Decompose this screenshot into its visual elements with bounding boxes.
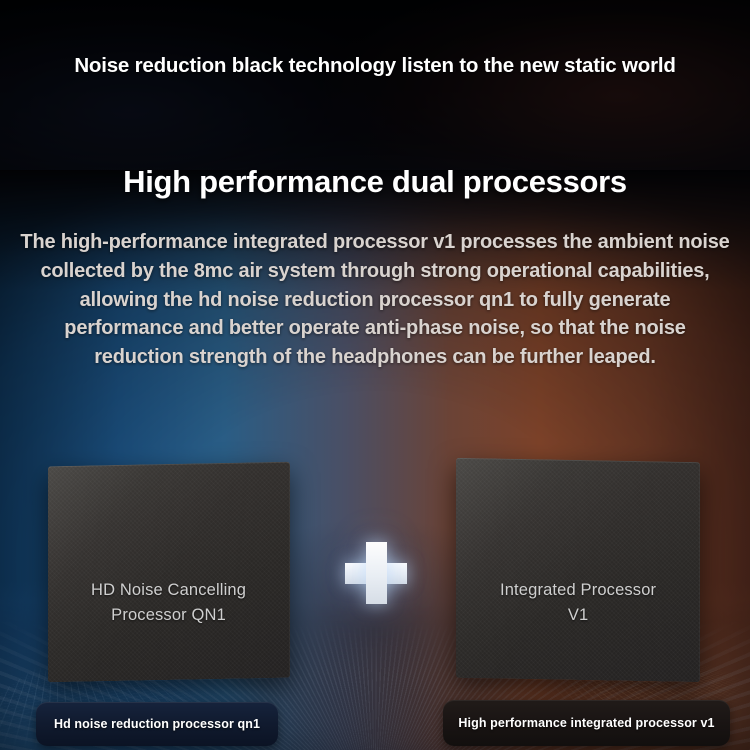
promo-banner: Noise reduction black technology listen …: [0, 0, 750, 750]
badge-qn1[interactable]: Hd noise reduction processor qn1: [36, 702, 278, 746]
badge-v1[interactable]: High performance integrated processor v1: [443, 700, 730, 746]
chip-qn1-label-line1: HD Noise Cancelling: [91, 578, 246, 603]
chip-qn1-label-line2: Processor QN1: [91, 603, 246, 628]
eyebrow-title: Noise reduction black technology listen …: [50, 52, 700, 79]
chip-v1-label: Integrated Processor V1: [500, 578, 656, 628]
plus-icon: [345, 542, 407, 604]
body-paragraph: The high-performance integrated processo…: [20, 228, 730, 372]
chip-v1: Integrated Processor V1: [456, 458, 700, 682]
chip-qn1: HD Noise Cancelling Processor QN1: [48, 462, 290, 683]
page-title: High performance dual processors: [40, 163, 710, 200]
chip-qn1-label: HD Noise Cancelling Processor QN1: [91, 578, 246, 628]
plus-icon-vertical-bar: [366, 542, 387, 604]
chip-v1-label-line1: Integrated Processor: [500, 578, 656, 603]
banner-content: Noise reduction black technology listen …: [0, 0, 750, 750]
chip-v1-label-line2: V1: [500, 603, 656, 628]
